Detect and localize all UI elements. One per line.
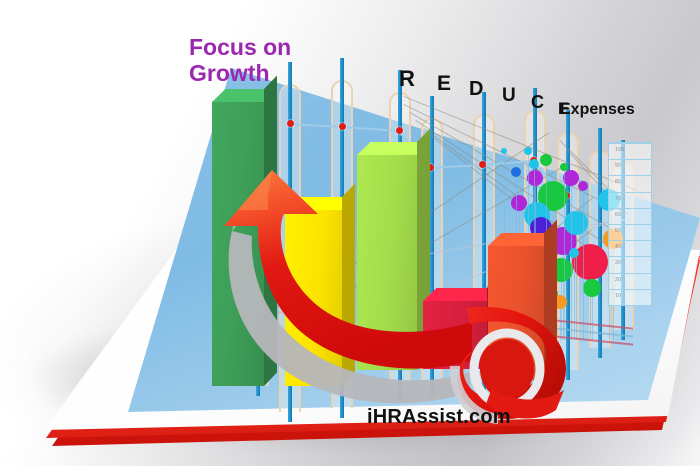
trend-marker-0 <box>287 120 294 127</box>
scale-tick-3: 70 <box>615 196 621 202</box>
scale-rule-4 <box>609 208 651 209</box>
bar-expense-b <box>488 246 544 380</box>
scale-tick-4: 60 <box>615 212 621 218</box>
bubble-stem-11 <box>571 178 572 340</box>
bar-front-face-2 <box>357 155 417 370</box>
bubble-16 <box>560 163 568 171</box>
scale-tick-6: 40 <box>615 244 621 250</box>
scale-tick-5: 50 <box>615 228 621 234</box>
bubble-19 <box>578 181 588 191</box>
bubble-14 <box>529 159 539 169</box>
scale-rule-2 <box>609 175 651 176</box>
scale-tick-0: 100 <box>615 147 624 153</box>
bar-growth-c <box>357 155 417 370</box>
scale-tick-2: 80 <box>615 179 621 185</box>
scale-tick-7: 30 <box>615 260 621 266</box>
bubble-17 <box>524 147 532 155</box>
headline-growth-line1: Focus on <box>189 34 291 60</box>
bar-side-face-4 <box>544 220 557 380</box>
headline-expenses: Expenses <box>560 101 635 119</box>
bubble-stem-21 <box>574 253 575 340</box>
scale-rule-0 <box>609 143 651 144</box>
trend-marker-1 <box>339 123 346 130</box>
bubble-stem-19 <box>583 186 584 340</box>
bar-growth-a <box>212 102 264 386</box>
scale-rule-3 <box>609 192 651 193</box>
scale-rule-7 <box>609 256 651 257</box>
bubble-11 <box>563 170 579 186</box>
reduce-letter-u-3: U <box>502 85 516 107</box>
scale-rule-8 <box>609 273 651 274</box>
bar-expense-a <box>423 301 487 369</box>
scale-tick-1: 90 <box>615 163 621 169</box>
trend-marker-4 <box>479 161 486 168</box>
bar-side-face-1 <box>342 184 355 386</box>
reduce-letter-c-4: C <box>531 92 544 113</box>
bar-front-face-3 <box>423 301 487 369</box>
trend-marker-2 <box>396 127 403 134</box>
bubble-15 <box>511 167 521 177</box>
bubble-10 <box>527 170 543 186</box>
reduce-letter-r-0: R <box>399 66 415 92</box>
bar-side-face-0 <box>264 76 277 386</box>
scale-panel: 100908070605040302010 <box>608 142 652 306</box>
watermark-brand: iHRAssist.com <box>367 406 511 429</box>
bar-front-face-0 <box>212 102 264 386</box>
bar-front-face-1 <box>285 210 342 386</box>
bar-growth-b <box>285 210 342 386</box>
bar-front-face-4 <box>488 246 544 380</box>
scale-rule-5 <box>609 224 651 225</box>
bubble-21 <box>569 248 579 258</box>
bubble-18 <box>501 148 507 154</box>
reduce-letter-d-2: D <box>469 78 483 101</box>
bubble-13 <box>540 154 552 166</box>
scale-rule-1 <box>609 159 651 160</box>
scale-tick-8: 20 <box>615 277 621 283</box>
bubble-12 <box>511 195 527 211</box>
reduce-letter-e-1: E <box>437 72 451 96</box>
scale-rule-9 <box>609 289 651 290</box>
headline-growth: Focus on Growth <box>189 34 291 87</box>
illustration-canvas: 100908070605040302010 <box>0 0 700 466</box>
chart-scene: 100908070605040302010 <box>0 0 700 466</box>
bubble-stem-16 <box>564 167 565 340</box>
headline-growth-line2: Growth <box>189 60 291 86</box>
bubble-9 <box>583 279 601 297</box>
bubble-5 <box>564 211 588 235</box>
scale-rule-6 <box>609 240 651 241</box>
scale-tick-9: 10 <box>615 293 621 299</box>
